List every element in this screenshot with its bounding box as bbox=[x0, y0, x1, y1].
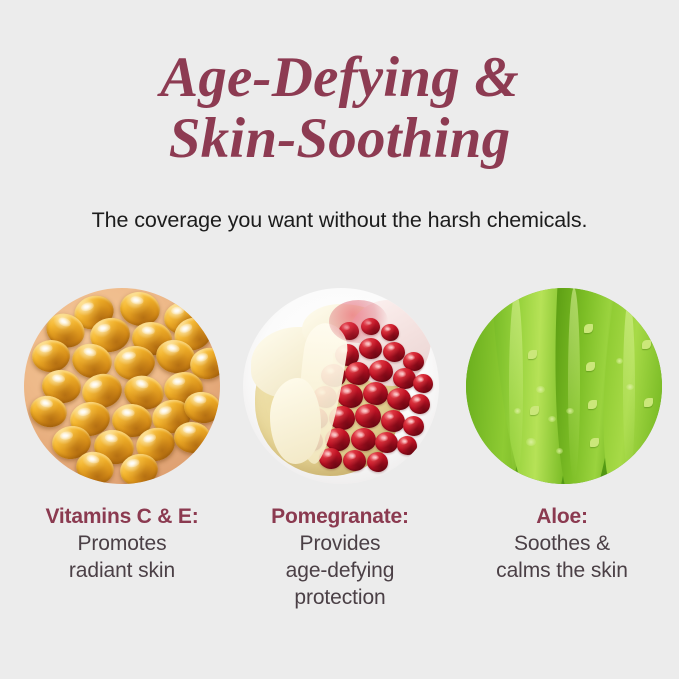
aloe-leaf-tooth bbox=[528, 350, 537, 359]
aloe-leaf-tooth bbox=[530, 406, 539, 415]
caption-line: age-defying bbox=[230, 557, 450, 584]
ingredient-image-pomegranate bbox=[243, 288, 439, 484]
pomegranate-aril bbox=[375, 432, 398, 453]
headline-line-1: Age-Defying & bbox=[0, 47, 679, 108]
aloe-leaf-tooth bbox=[644, 398, 653, 407]
page-title: Age-Defying & Skin-Soothing bbox=[0, 47, 679, 169]
pomegranate-aril bbox=[381, 410, 405, 432]
caption-line: protection bbox=[230, 584, 450, 611]
pomegranate-seed-patch bbox=[329, 300, 388, 343]
caption-pomegranate: Pomegranate: Provides age-defying protec… bbox=[230, 503, 450, 611]
pomegranate-aril bbox=[403, 416, 424, 436]
aloe-speck bbox=[566, 408, 574, 414]
aloe-speck bbox=[556, 448, 563, 454]
pomegranate-aril bbox=[409, 394, 430, 414]
aloe-leaf-tooth bbox=[584, 324, 593, 333]
aloe-speck bbox=[616, 358, 623, 364]
aloe-leaf-tooth bbox=[588, 400, 597, 409]
aloe-speck bbox=[626, 384, 634, 390]
aloe-leaf-highlight bbox=[509, 292, 523, 480]
ingredient-images-row bbox=[0, 288, 679, 484]
pomegranate-aril bbox=[351, 428, 376, 451]
caption-body: Provides age-defying protection bbox=[230, 530, 450, 611]
aloe-speck bbox=[526, 438, 536, 446]
pomegranate-aril bbox=[345, 362, 370, 385]
caption-title: Pomegranate: bbox=[230, 503, 450, 530]
pomegranate-aril bbox=[413, 374, 433, 393]
caption-title: Aloe: bbox=[452, 503, 672, 530]
caption-line: calms the skin bbox=[452, 557, 672, 584]
pomegranate-aril bbox=[397, 436, 417, 455]
vitamin-capsules-photo bbox=[24, 288, 220, 484]
aloe-leaf-tooth bbox=[590, 438, 599, 447]
ingredient-image-vitamins bbox=[24, 288, 220, 484]
aloe-leaf-tooth bbox=[642, 340, 651, 349]
caption-line: radiant skin bbox=[12, 557, 232, 584]
pomegranate-aril bbox=[387, 388, 411, 410]
caption-body: Promotes radiant skin bbox=[12, 530, 232, 584]
caption-vitamins: Vitamins C & E: Promotes radiant skin bbox=[12, 503, 232, 584]
pomegranate-aril bbox=[369, 360, 393, 382]
caption-line: Promotes bbox=[12, 530, 232, 557]
headline-line-2: Skin-Soothing bbox=[0, 108, 679, 169]
product-benefits-graphic: Age-Defying & Skin-Soothing The coverage… bbox=[0, 0, 679, 679]
caption-title: Vitamins C & E: bbox=[12, 503, 232, 530]
aloe-speck bbox=[548, 416, 556, 422]
subtitle: The coverage you want without the harsh … bbox=[0, 207, 679, 233]
pomegranate-aril bbox=[367, 452, 388, 472]
ingredient-captions-row: Vitamins C & E: Promotes radiant skin Po… bbox=[0, 503, 679, 663]
aloe-vera-photo bbox=[466, 288, 662, 484]
caption-line: Provides bbox=[230, 530, 450, 557]
caption-line: Soothes & bbox=[452, 530, 672, 557]
aloe-leaf-tooth bbox=[646, 450, 655, 459]
pomegranate-aril bbox=[343, 450, 366, 471]
aloe-speck bbox=[536, 386, 545, 393]
aloe-leaf-tooth bbox=[586, 362, 595, 371]
pomegranate-aril bbox=[363, 382, 388, 405]
aloe-speck bbox=[514, 408, 521, 414]
caption-body: Soothes & calms the skin bbox=[452, 530, 672, 584]
ingredient-image-aloe bbox=[466, 288, 662, 484]
pomegranate-aril bbox=[355, 404, 381, 428]
pomegranate-photo bbox=[243, 288, 439, 484]
pomegranate-pith bbox=[270, 378, 321, 464]
pomegranate-aril bbox=[383, 342, 405, 362]
caption-aloe: Aloe: Soothes & calms the skin bbox=[452, 503, 672, 584]
aloe-leaf-highlight bbox=[568, 288, 580, 480]
